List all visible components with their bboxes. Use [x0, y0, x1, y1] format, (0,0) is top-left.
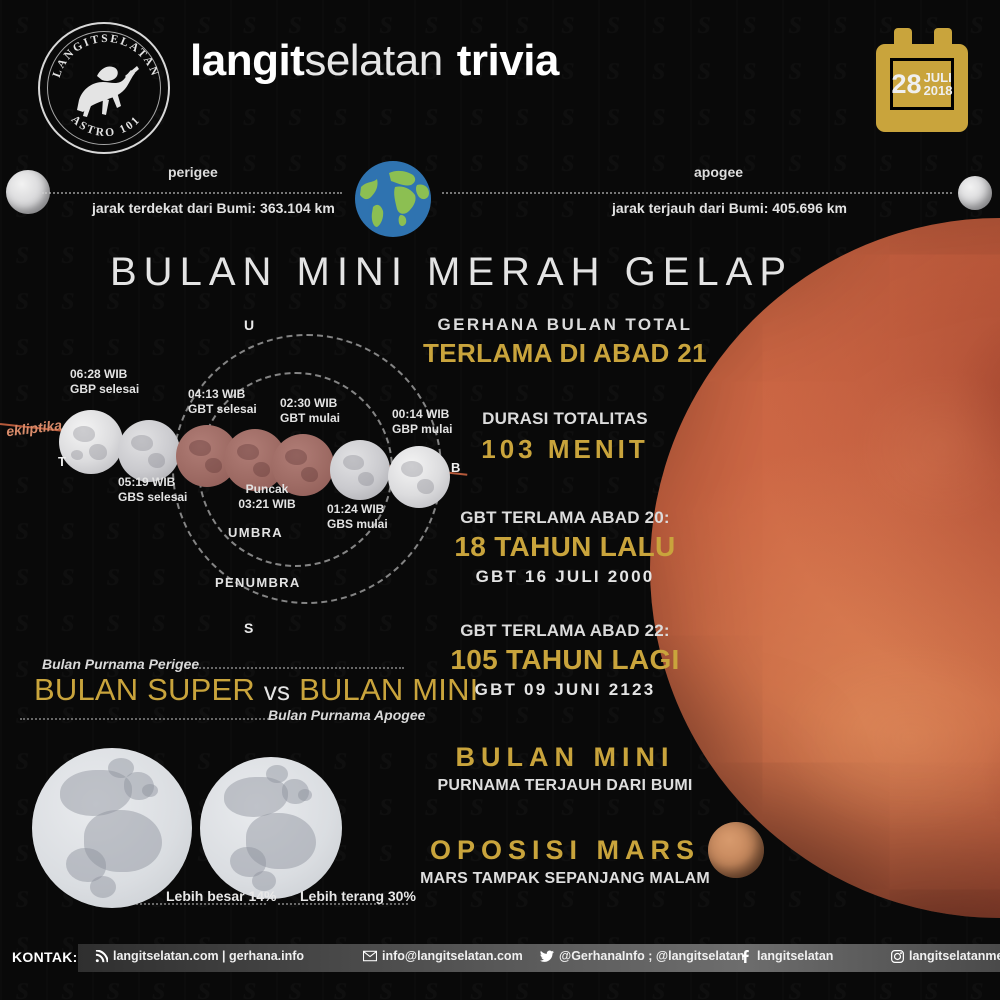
- comparison-size-stat: Lebih besar 14%: [166, 888, 277, 904]
- mars-subtitle: MARS TAMPAK SEPANJANG MALAM: [420, 870, 710, 888]
- footer-item-facebook[interactable]: langitselatan: [738, 949, 833, 963]
- peak-label: Puncak 03:21 WIB: [227, 482, 307, 512]
- penumbra-label: PENUMBRA: [215, 575, 301, 590]
- watermark-glyph: s: [364, 782, 409, 828]
- brand-part-1: langit: [190, 36, 304, 85]
- calendar-date-display: 28 JULI 2018: [893, 61, 951, 107]
- phase-0124-time: 01:24 WIB: [327, 502, 384, 516]
- brand-part-3: trivia: [457, 36, 559, 85]
- eclipse-diagram: U S ekliptika T B 06:28 WIB GBP selesai …: [0, 310, 470, 650]
- langitselatan-logo: LANGITSELATAN ASTRO 101: [38, 22, 170, 154]
- moon-phase-6: [59, 410, 123, 474]
- header: LANGITSELATAN ASTRO 101 langitselatantri…: [0, 0, 1000, 150]
- mars-block: OPOSISI MARS MARS TAMPAK SEPANJANG MALAM: [420, 835, 710, 888]
- comparison-top-dots: [192, 667, 404, 669]
- century20-date: GBT 16 JULI 2000: [420, 567, 710, 587]
- pole-north-label: U: [244, 317, 254, 333]
- earth-icon: [351, 157, 435, 241]
- footer-website-text: langitselatan.com | gerhana.info: [113, 949, 304, 963]
- phase-label-0519: 05:19 WIB GBS selesai: [118, 475, 187, 505]
- phase-0519-event: GBS selesai: [118, 490, 187, 504]
- century20-block: GBT TERLAMA ABAD 20: 18 TAHUN LALU GBT 1…: [420, 508, 710, 587]
- instagram-icon: [890, 949, 904, 963]
- calendar-month-year: JULI 2018: [924, 71, 953, 97]
- footer-item-email[interactable]: info@langitselatan.com: [363, 949, 523, 963]
- phase-0519-time: 05:19 WIB: [118, 475, 175, 489]
- apogee-distance: jarak terjauh dari Bumi: 405.696 km: [612, 200, 847, 216]
- info-column: GERHANA BULAN TOTAL TERLAMA DI ABAD 21 D…: [420, 315, 710, 894]
- watermark-glyph: s: [0, 874, 45, 920]
- horse-rider-icon: [67, 56, 141, 120]
- logo-ring-text: LANGITSELATAN ASTRO 101: [40, 24, 172, 156]
- duration-label: DURASI TOTALITAS: [420, 409, 710, 429]
- brand-part-2: selatan: [304, 36, 442, 85]
- ecliptic-label: ekliptika: [5, 417, 63, 440]
- apogee-dotted-line: [442, 192, 952, 194]
- eclipse-kicker: GERHANA BULAN TOTAL: [420, 315, 710, 335]
- perigee-distance: jarak terdekat dari Bumi: 363.104 km: [92, 200, 335, 216]
- apogee-moon-icon: [958, 176, 992, 210]
- calendar-body: 28 JULI 2018: [876, 44, 968, 132]
- footer-item-instagram[interactable]: langitselatanmedia: [890, 949, 1000, 963]
- watermark-glyph: s: [318, 736, 363, 782]
- moon-phase-2: [330, 440, 390, 500]
- phase-label-0230: 02:30 WIB GBT mulai: [280, 396, 340, 426]
- calendar-day: 28: [892, 71, 922, 98]
- footer-contact-bar: KONTAK: langitselatan.com | gerhana.info…: [0, 944, 1000, 972]
- watermark-glyph: s: [727, 874, 772, 920]
- footer-instagram-text: langitselatanmedia: [909, 949, 1000, 963]
- minimoon-block: BULAN MINI PURNAMA TERJAUH DARI BUMI: [420, 742, 710, 795]
- comparison-bottom-dots: [20, 718, 272, 720]
- logo-ring-bottom-text: ASTRO 101: [69, 113, 144, 139]
- comparison-title-right: BULAN MINI: [299, 672, 478, 707]
- phase-label-0124: 01:24 WIB GBS mulai: [327, 502, 388, 532]
- calendar-screen: 28 JULI 2018: [890, 58, 954, 110]
- eclipse-kicker-block: GERHANA BULAN TOTAL TERLAMA DI ABAD 21: [420, 315, 710, 369]
- kontak-label: KONTAK:: [12, 949, 78, 965]
- phase-0628-time: 06:28 WIB: [70, 367, 127, 381]
- watermark-glyph: s: [773, 874, 818, 920]
- comparison-title-vs: vs: [264, 676, 290, 706]
- minimoon-title: BULAN MINI: [420, 742, 710, 773]
- comparison-brightness-stat: Lebih terang 30%: [300, 888, 416, 904]
- footer-facebook-text: langitselatan: [757, 949, 833, 963]
- orbit-distance-row: [0, 158, 1000, 238]
- century20-label: GBT TERLAMA ABAD 20:: [420, 508, 710, 528]
- phase-0124-event: GBS mulai: [327, 517, 388, 531]
- footer-email-text: info@langitselatan.com: [382, 949, 523, 963]
- supermoon-image: [32, 748, 192, 908]
- duration-value: 103 MENIT: [420, 434, 710, 465]
- umbra-label: UMBRA: [228, 525, 283, 540]
- comparison-top-caption: Bulan Purnama Perigee: [42, 656, 199, 672]
- apogee-label: apogee: [694, 164, 743, 180]
- calendar-year: 2018: [924, 84, 953, 97]
- phase-label-0628: 06:28 WIB GBP selesai: [70, 367, 139, 397]
- moon-phase-5: [118, 420, 180, 482]
- peak-text: Puncak: [246, 482, 289, 496]
- minimoon-subtitle: PURNAMA TERJAUH DARI BUMI: [420, 777, 710, 795]
- footer-item-twitter[interactable]: @GerhanaInfo ; @langitselatan: [540, 949, 745, 963]
- footer-twitter-text: @GerhanaInfo ; @langitselatan: [559, 949, 745, 963]
- main-headline: BULAN MINI MERAH GELAP: [110, 250, 793, 295]
- phase-0413-time: 04:13 WIB: [188, 387, 245, 401]
- east-marker-label: T: [58, 454, 66, 469]
- phase-0230-event: GBT mulai: [280, 411, 340, 425]
- footer-item-website[interactable]: langitselatan.com | gerhana.info: [94, 949, 304, 963]
- perigee-label: perigee: [168, 164, 218, 180]
- perigee-dotted-line: [42, 192, 342, 194]
- page-title: langitselatantrivia: [190, 36, 559, 86]
- logo-ring-top-text: LANGITSELATAN: [51, 33, 161, 79]
- pole-south-label: S: [244, 620, 253, 636]
- minimoon-image: [200, 757, 342, 899]
- century20-value: 18 TAHUN LALU: [420, 531, 710, 563]
- phase-0230-time: 02:30 WIB: [280, 396, 337, 410]
- duration-block: DURASI TOTALITAS 103 MENIT: [420, 409, 710, 465]
- comparison-bottom-caption: Bulan Purnama Apogee: [268, 707, 425, 723]
- twitter-icon: [540, 949, 554, 963]
- comparison-title: BULAN SUPER vs BULAN MINI: [34, 672, 478, 708]
- mars-title: OPOSISI MARS: [420, 835, 710, 866]
- phase-0413-event: GBT selesai: [188, 402, 257, 416]
- watermark-glyph: s: [0, 736, 45, 782]
- century22-label: GBT TERLAMA ABAD 22:: [420, 621, 710, 641]
- footer-bar-background: langitselatan.com | gerhana.info info@la…: [78, 944, 1000, 972]
- calendar-icon: 28 JULI 2018: [872, 28, 972, 132]
- watermark-glyph: s: [182, 736, 227, 782]
- comparison-title-left: BULAN SUPER: [34, 672, 255, 707]
- mars-planet-image: [708, 822, 764, 878]
- envelope-icon: [363, 949, 377, 963]
- peak-time: 03:21 WIB: [238, 497, 295, 511]
- facebook-icon: [738, 949, 752, 963]
- phase-label-0413: 04:13 WIB GBT selesai: [188, 387, 257, 417]
- eclipse-title: TERLAMA DI ABAD 21: [420, 338, 710, 369]
- watermark-glyph: s: [364, 736, 409, 782]
- rss-icon: [94, 949, 108, 963]
- watermark-glyph: s: [364, 828, 409, 874]
- phase-0628-event: GBP selesai: [70, 382, 139, 396]
